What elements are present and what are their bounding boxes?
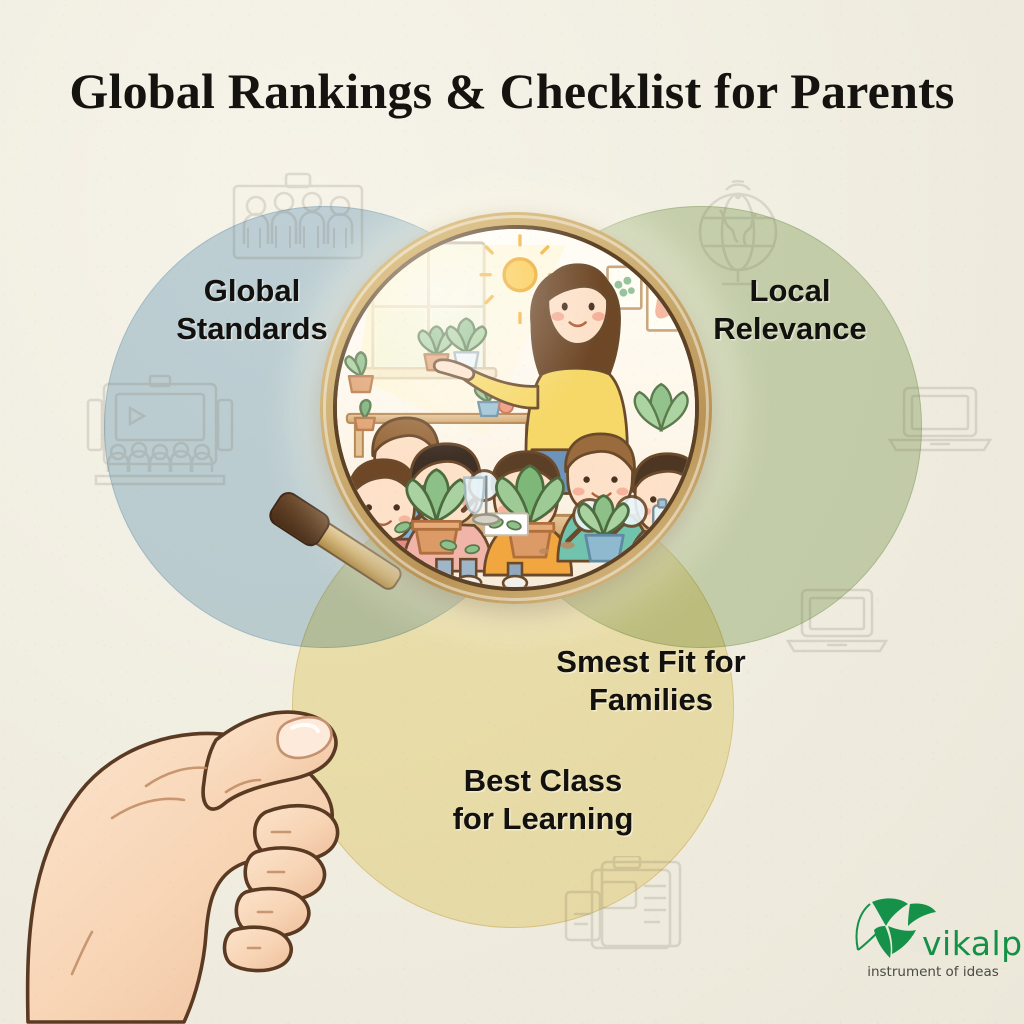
- label-global-standards: Global Standards: [130, 272, 374, 348]
- lens-window: [333, 225, 699, 591]
- page-title: Global Rankings & Checklist for Parents: [0, 62, 1024, 120]
- label-best-class-for-learning: Best Class for Learning: [416, 762, 670, 838]
- poster-canvas: Global Rankings & Checklist for Parents …: [0, 0, 1024, 1024]
- logo-wordmark: vikalp: [922, 924, 1023, 963]
- logo-tagline: instrument of ideas: [858, 964, 1008, 980]
- brand-logo: vikalp instrument of ideas: [848, 892, 1008, 1000]
- magnifying-glass: [320, 212, 712, 604]
- label-local-relevance: Local Relevance: [668, 272, 912, 348]
- label-smest-fit-for-families: Smest Fit for Families: [528, 643, 774, 719]
- hand-holding-magnifier: [20, 556, 400, 1024]
- classroom-scene: [337, 229, 695, 587]
